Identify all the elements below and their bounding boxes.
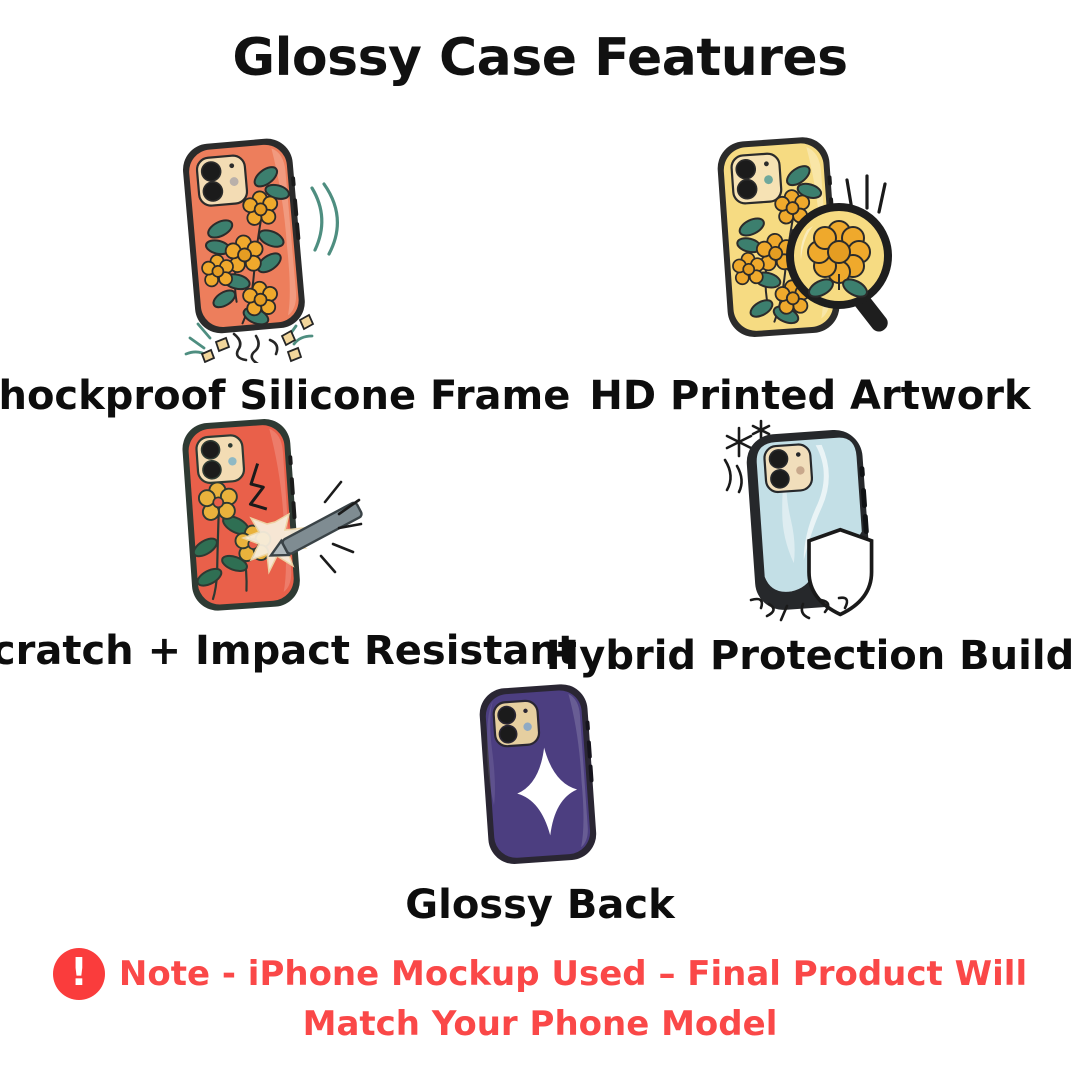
- feature-caption: Hybrid Protection Build: [546, 635, 1074, 677]
- feature-hd-artwork: HD Printed Artwork: [540, 128, 1080, 417]
- disclaimer-text-line-2: Match Your Phone Model: [303, 1004, 778, 1044]
- exclamation-circle-icon: !: [53, 948, 105, 1000]
- feature-caption: Glossy Back: [405, 884, 674, 926]
- phone-case-glossy-purple-illustration: [450, 680, 630, 874]
- phone-case-magnifier-illustration: [695, 128, 925, 367]
- disclaimer-note: ! Note - iPhone Mockup Used – Final Prod…: [0, 948, 1080, 1044]
- phone-body: [478, 683, 599, 866]
- feature-shockproof: Shockproof Silicone Frame: [0, 128, 540, 417]
- feature-caption: HD Printed Artwork: [589, 375, 1030, 417]
- feature-glossy-back: Glossy Back: [270, 680, 810, 926]
- phone-case-hybrid-shield-illustration: [703, 412, 918, 631]
- phone-body: [180, 417, 302, 612]
- disclaimer-text-line-1: Note - iPhone Mockup Used – Final Produc…: [119, 954, 1027, 994]
- glossy-case-features-infographic: Glossy Case Features: [0, 0, 1080, 1080]
- exclamation-glyph: !: [70, 953, 87, 991]
- vibration-arcs-icon: [312, 184, 337, 254]
- phone-case-shockproof-illustration: [160, 128, 380, 367]
- feature-scratch-impact: Scratch + Impact Resistant: [0, 412, 540, 672]
- phone-body: [181, 136, 308, 335]
- feature-caption: Shockproof Silicone Frame: [0, 375, 570, 417]
- feature-caption: Scratch + Impact Resistant: [0, 630, 577, 672]
- disclaimer-note-line-1: ! Note - iPhone Mockup Used – Final Prod…: [53, 948, 1027, 1000]
- feature-hybrid-protection: Hybrid Protection Build: [540, 412, 1080, 677]
- page-title: Glossy Case Features: [0, 28, 1080, 88]
- phone-case-scratch-illustration: [163, 412, 378, 626]
